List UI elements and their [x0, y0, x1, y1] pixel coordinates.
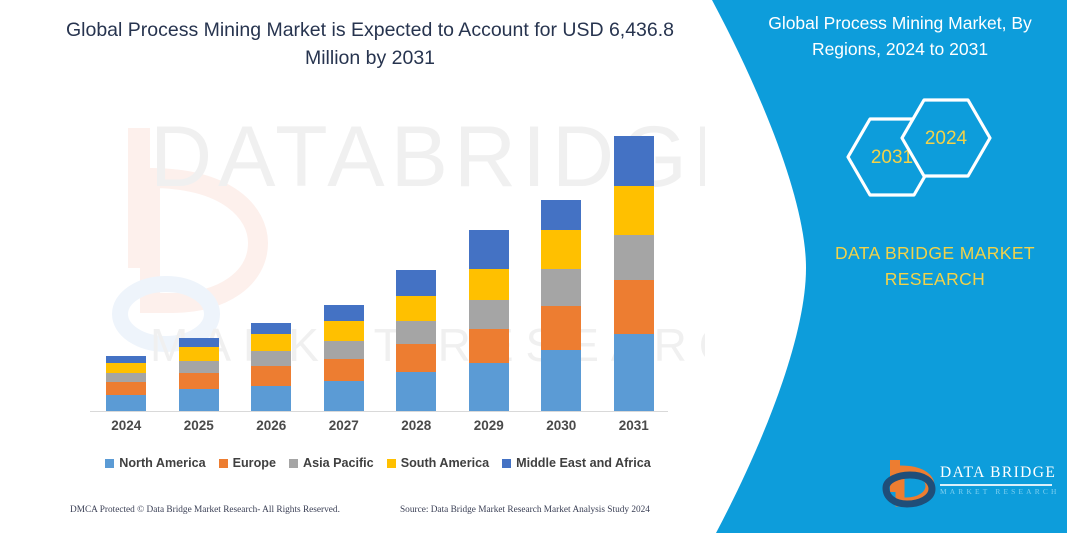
footer: DMCA Protected © Data Bridge Market Rese… [0, 505, 705, 529]
legend-swatch-icon [105, 459, 114, 468]
legend-item[interactable]: North America [105, 456, 205, 470]
x-axis-label: 2025 [169, 418, 229, 433]
bar-segment [469, 363, 509, 411]
chart-plot-area [90, 96, 670, 411]
bar-segment [396, 296, 436, 321]
bar-segment [251, 323, 291, 334]
bar-segment [469, 230, 509, 269]
bar-segment [324, 341, 364, 359]
bar-segment [106, 356, 146, 363]
legend-label: Europe [233, 456, 276, 470]
x-axis-label: 2031 [604, 418, 664, 433]
bar-segment [541, 350, 581, 411]
legend-label: Asia Pacific [303, 456, 374, 470]
legend-label: Middle East and Africa [516, 456, 651, 470]
chart-legend: North AmericaEuropeAsia PacificSouth Ame… [78, 456, 678, 470]
bar-group [541, 200, 581, 411]
bar-segment [106, 382, 146, 395]
bar-segment [541, 230, 581, 270]
x-axis-label: 2030 [531, 418, 591, 433]
bar-segment [541, 200, 581, 230]
bar-segment [614, 235, 654, 280]
bar-group [614, 136, 654, 411]
infographic-root: DATABRIDGE MARKET RESEARCH Global Proces… [0, 0, 1067, 533]
bar-segment [324, 359, 364, 382]
bar-group [469, 230, 509, 411]
bar-segment [179, 347, 219, 361]
legend-swatch-icon [387, 459, 396, 468]
footer-copyright: DMCA Protected © Data Bridge Market Rese… [70, 505, 340, 515]
bar-segment [469, 269, 509, 301]
bar-group [179, 338, 219, 411]
legend-swatch-icon [219, 459, 228, 468]
bar-segment [396, 372, 436, 411]
bar-group [251, 323, 291, 411]
logo-subtitle: MARKET RESEARCH [940, 487, 1060, 496]
bar-segment [541, 269, 581, 306]
bar-segment [614, 186, 654, 236]
x-axis-label: 2029 [459, 418, 519, 433]
bar-segment [396, 344, 436, 372]
bar-segment [106, 363, 146, 373]
bar-segment [106, 373, 146, 382]
x-axis-label: 2028 [386, 418, 446, 433]
bar-group [106, 356, 146, 411]
bar-segment [251, 334, 291, 351]
bar-segment [541, 306, 581, 349]
x-axis-label: 2026 [241, 418, 301, 433]
bar-segment [614, 280, 654, 334]
bar-segment [469, 300, 509, 329]
hexagon-2024: 2024 [902, 100, 990, 176]
legend-swatch-icon [502, 459, 511, 468]
bar-segment [179, 373, 219, 389]
hexagon-badges: 2031 2024 [818, 92, 1058, 222]
logo-mark-icon [880, 458, 936, 510]
bar-segment [396, 270, 436, 295]
bar-segment [179, 361, 219, 374]
page-title: Global Process Mining Market is Expected… [60, 16, 680, 73]
x-axis-label: 2024 [96, 418, 156, 433]
svg-text:2024: 2024 [925, 128, 968, 149]
legend-label: South America [401, 456, 489, 470]
bar-segment [614, 136, 654, 186]
bar-segment [179, 338, 219, 347]
legend-item[interactable]: Europe [219, 456, 276, 470]
logo: DATA BRIDGE MARKET RESEARCH [880, 458, 1060, 512]
bar-segment [251, 386, 291, 411]
bar-segment [396, 321, 436, 344]
bar-segment [469, 329, 509, 363]
x-axis-label: 2027 [314, 418, 374, 433]
logo-divider [940, 484, 1052, 486]
svg-text:2031: 2031 [871, 147, 913, 168]
legend-item[interactable]: Middle East and Africa [502, 456, 651, 470]
bar-segment [106, 395, 146, 411]
bar-group [324, 305, 364, 411]
bar-segment [251, 366, 291, 386]
bar-segment [324, 381, 364, 411]
legend-item[interactable]: South America [387, 456, 489, 470]
panel-title: Global Process Mining Market, By Regions… [745, 10, 1055, 63]
bar-segment [179, 389, 219, 411]
legend-item[interactable]: Asia Pacific [289, 456, 374, 470]
bar-segment [324, 305, 364, 321]
x-axis-line [90, 411, 668, 412]
footer-source: Source: Data Bridge Market Research Mark… [400, 505, 650, 515]
brand-name: DATA BRIDGE MARKET RESEARCH [800, 240, 1067, 293]
bar-segment [251, 351, 291, 366]
bar-group [396, 270, 436, 411]
bar-segment [324, 321, 364, 341]
logo-title: DATA BRIDGE [940, 464, 1056, 482]
bar-segment [614, 334, 654, 411]
legend-label: North America [119, 456, 205, 470]
x-axis-labels: 20242025202620272028202920302031 [90, 418, 670, 444]
legend-swatch-icon [289, 459, 298, 468]
stacked-bar-chart: 20242025202620272028202920302031 [78, 96, 678, 416]
